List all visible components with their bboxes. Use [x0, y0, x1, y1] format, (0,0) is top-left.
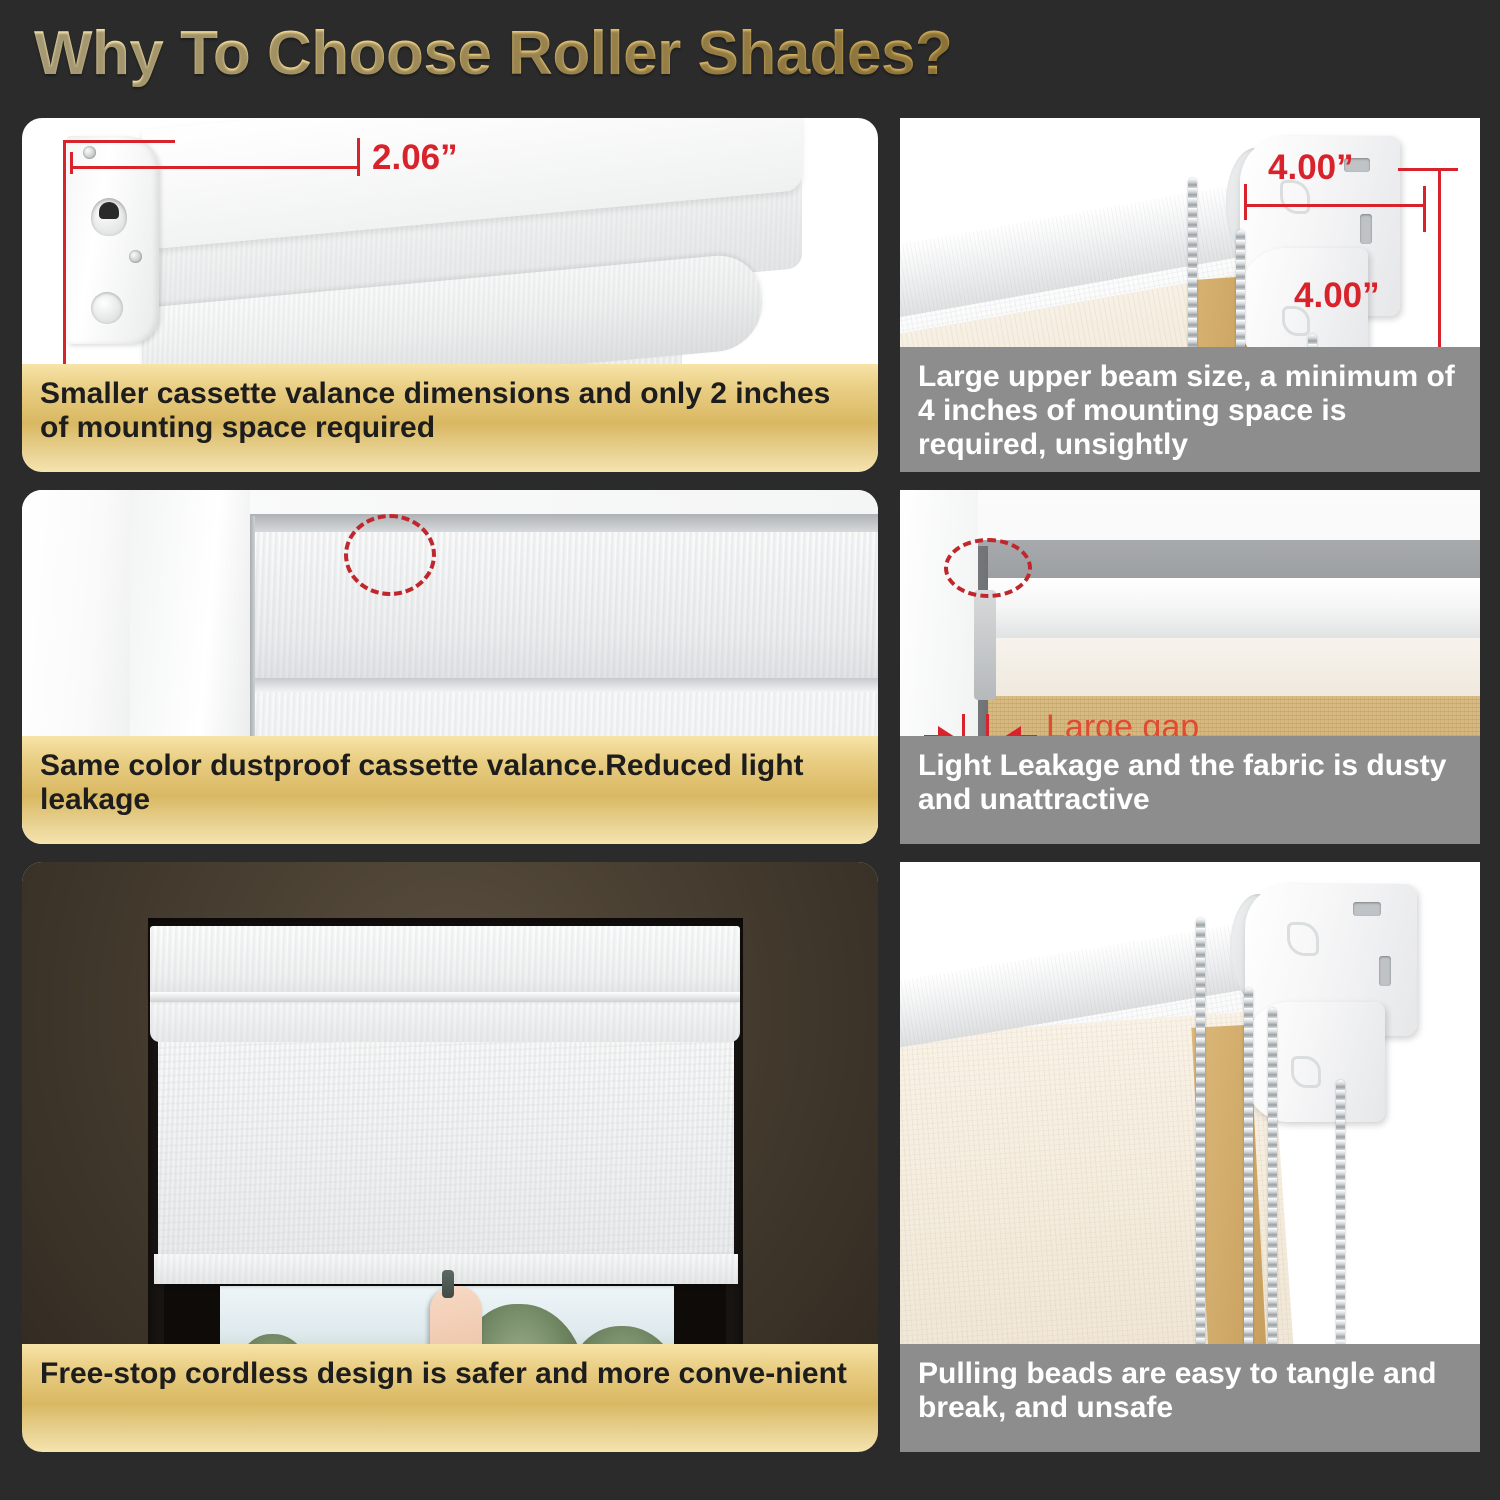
bracket-hardware: [974, 590, 996, 700]
screw-icon: [129, 250, 142, 263]
cassette-lip: [150, 992, 740, 1002]
shade-fabric: [158, 1040, 734, 1260]
dim-width-line: [70, 166, 360, 169]
panel-bottom-left: Free-stop cordless design is safer and m…: [22, 862, 878, 1452]
caption-mid-right: Light Leakage and the fabric is dusty an…: [900, 736, 1480, 844]
panel-cell-mid-left: smaller gap Same color dustproof cassett…: [22, 490, 900, 862]
infographic-page: Why To Choose Roller Shades?: [0, 0, 1500, 1500]
page-title: Why To Choose Roller Shades?: [34, 18, 952, 89]
dim-width-line: [1244, 204, 1426, 207]
shade-valance-lower: [962, 638, 1480, 696]
shade-valance: [962, 578, 1480, 640]
panel-cell-mid-right: Large gap Light Leakage and the fabric i…: [900, 490, 1480, 862]
caption-bottom-right: Pulling beads are easy to tangle and bre…: [900, 1344, 1480, 1452]
dim-width-tick-left: [1244, 184, 1247, 220]
caption-top-left: Smaller cassette valance dimensions and …: [22, 364, 878, 472]
shade-divider: [250, 678, 878, 692]
bracket-slot: [1379, 956, 1391, 986]
bracket-slot: [1353, 902, 1381, 916]
dim-width-tick-right: [357, 138, 360, 176]
cassette-valance: [150, 926, 740, 998]
highlight-circle-icon: [944, 538, 1032, 598]
valance-screw-knob-icon: [91, 292, 123, 324]
shade-headrail: [250, 514, 878, 532]
highlight-circle-icon: [344, 514, 436, 596]
panel-cell-bottom-right: Pulling beads are easy to tangle and bre…: [900, 862, 1480, 1452]
panel-cell-top-right: 4.00” 4.00” Large upper beam size, a min…: [900, 118, 1480, 490]
screw-icon: [83, 146, 96, 159]
dim-height-tick-top: [63, 140, 175, 143]
panel-top-left: 2.06” 5.49” Smaller cassette valance dim…: [22, 118, 878, 472]
panel-mid-left: smaller gap Same color dustproof cassett…: [22, 490, 878, 844]
valance-mechanism-knob-icon: [91, 198, 127, 236]
dim-width-label: 4.00”: [1268, 148, 1354, 188]
shade-top-shadow: [962, 540, 1480, 582]
dim-width-label: 2.06”: [372, 138, 458, 178]
shade-roll: [150, 1000, 740, 1042]
comparison-grid: 2.06” 5.49” Smaller cassette valance dim…: [22, 118, 1480, 1480]
dim-width-tick-left: [70, 152, 73, 174]
panel-mid-right: Large gap Light Leakage and the fabric i…: [900, 490, 1480, 844]
caption-top-right: Large upper beam size, a minimum of 4 in…: [900, 347, 1480, 472]
panel-cell-bottom-left: Free-stop cordless design is safer and m…: [22, 862, 900, 1452]
dim-height-label: 4.00”: [1294, 276, 1380, 316]
panel-top-right: 4.00” 4.00” Large upper beam size, a min…: [900, 118, 1480, 472]
dim-width-tick-right: [1423, 186, 1426, 232]
bracket-emboss-icon: [1287, 922, 1319, 956]
panel-cell-top-left: 2.06” 5.49” Smaller cassette valance dim…: [22, 118, 900, 490]
dim-height-tick-top: [1398, 168, 1458, 171]
caption-bottom-left: Free-stop cordless design is safer and m…: [22, 1344, 878, 1452]
bracket-emboss-icon: [1291, 1056, 1321, 1088]
bracket-slot: [1360, 214, 1372, 244]
panel-bottom-right: Pulling beads are easy to tangle and bre…: [900, 862, 1480, 1452]
caption-mid-left: Same color dustproof cassette valance.Re…: [22, 736, 878, 844]
mounting-bracket-lower: [1245, 1002, 1385, 1122]
